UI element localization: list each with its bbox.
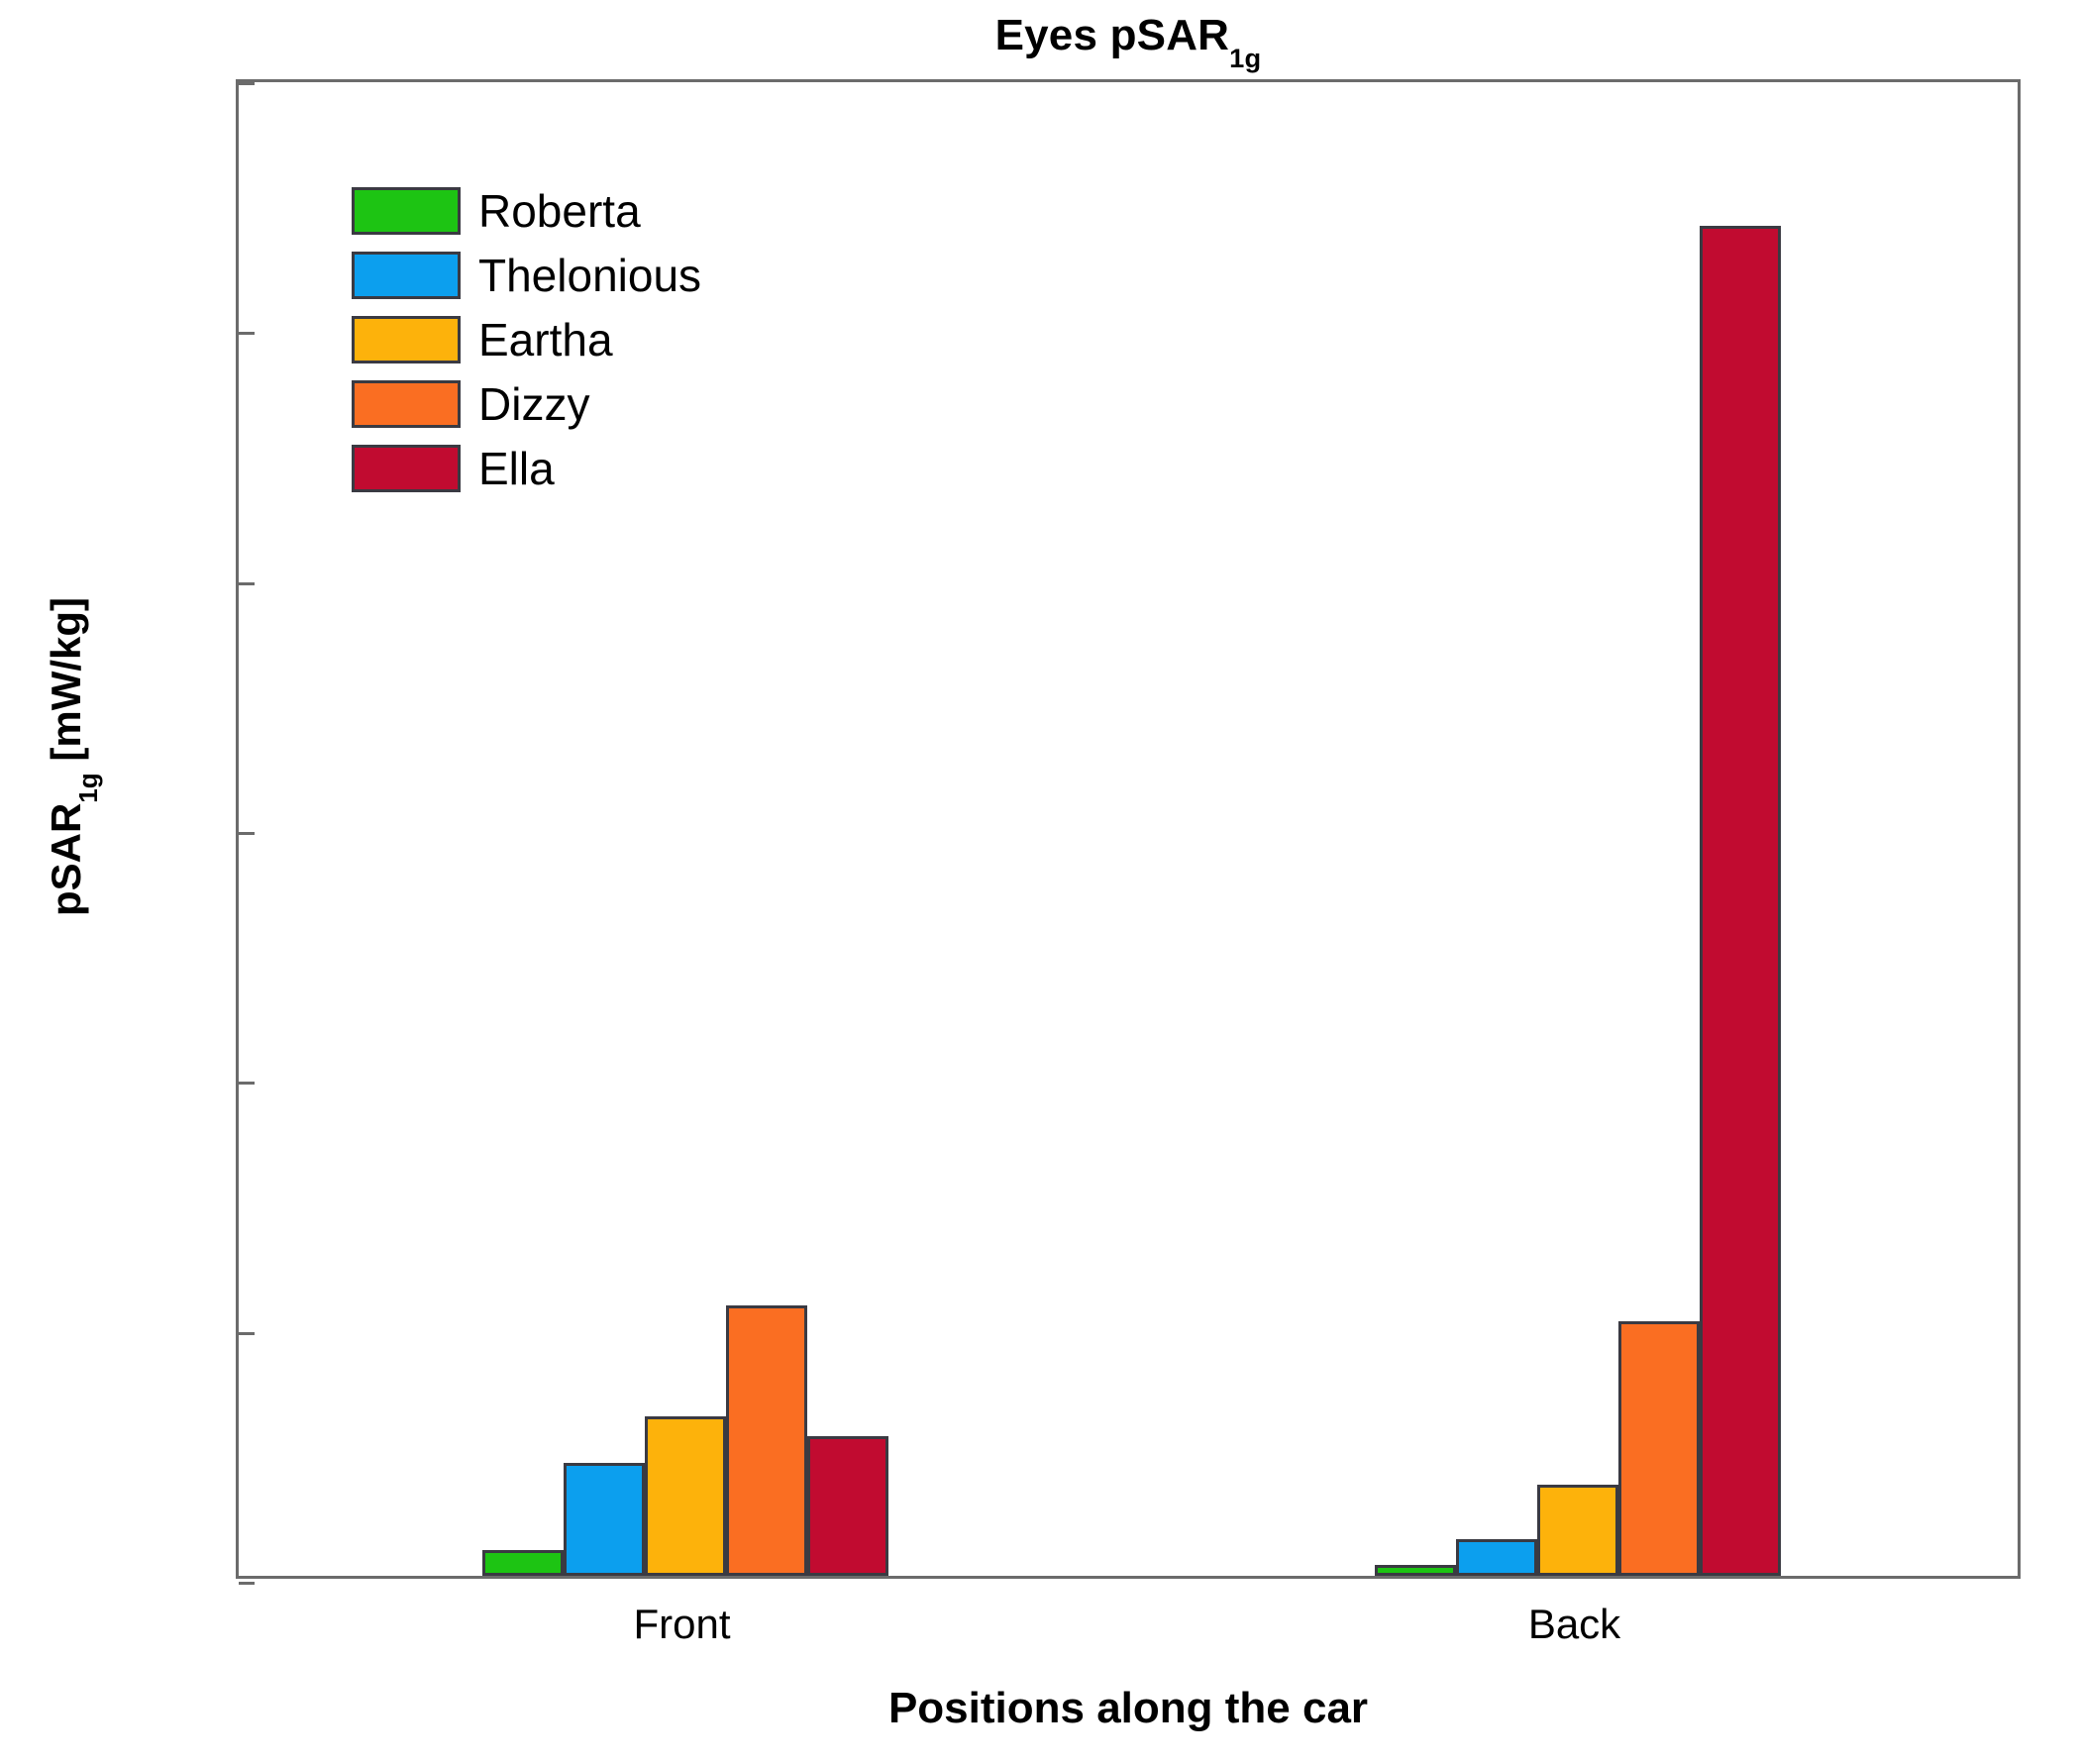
legend-label-ella: Ella xyxy=(478,444,555,493)
legend-swatch-ella xyxy=(352,445,461,492)
y-tick-mark xyxy=(239,332,255,335)
legend-item-thelonious[interactable]: Thelonious xyxy=(352,243,778,307)
y-tick-mark xyxy=(239,832,255,835)
legend-label-eartha: Eartha xyxy=(478,315,613,364)
y-tick-mark xyxy=(239,82,255,85)
chart-title: Eyes pSAR1g xyxy=(236,8,2021,63)
y-tick-mark xyxy=(239,582,255,585)
legend-label-dizzy: Dizzy xyxy=(478,379,589,429)
bar-eartha-back[interactable] xyxy=(1537,1485,1618,1576)
y-axis-title-unit: [mW/kg] xyxy=(43,597,89,773)
chart-title-main: Eyes pSAR xyxy=(995,11,1230,59)
x-axis-title: Positions along the car xyxy=(236,1684,2021,1733)
bar-thelonious-back[interactable] xyxy=(1456,1539,1537,1576)
legend-item-dizzy[interactable]: Dizzy xyxy=(352,371,778,436)
legend-item-ella[interactable]: Ella xyxy=(352,436,778,500)
legend-label-thelonious: Thelonious xyxy=(478,251,701,300)
y-axis-title-subscript: 1g xyxy=(73,773,103,802)
legend-swatch-roberta xyxy=(352,187,461,235)
figure-canvas: Eyes pSAR1g pSAR1g [mW/kg] 0102030405060… xyxy=(0,0,2080,1764)
y-tick-mark xyxy=(239,1082,255,1085)
legend-label-roberta: Roberta xyxy=(478,186,641,236)
y-tick-mark xyxy=(239,1332,255,1335)
legend-swatch-thelonious xyxy=(352,252,461,299)
x-tick-label-back: Back xyxy=(1377,1601,1773,1648)
y-axis-title: pSAR1g [mW/kg] xyxy=(43,7,90,1506)
legend-swatch-dizzy xyxy=(352,380,461,428)
x-tick-label-front: Front xyxy=(484,1601,881,1648)
y-axis-title-main: pSAR xyxy=(43,803,89,916)
legend-item-roberta[interactable]: Roberta xyxy=(352,178,778,243)
bar-dizzy-back[interactable] xyxy=(1618,1321,1700,1576)
chart-title-subscript: 1g xyxy=(1229,43,1261,73)
legend: RobertaTheloniousEarthaDizzyElla xyxy=(352,178,778,500)
bar-ella-back[interactable] xyxy=(1700,226,1781,1576)
legend-swatch-eartha xyxy=(352,316,461,363)
y-tick-mark xyxy=(239,1582,255,1585)
legend-item-eartha[interactable]: Eartha xyxy=(352,307,778,371)
bar-ella-front[interactable] xyxy=(807,1436,888,1576)
bar-thelonious-front[interactable] xyxy=(564,1463,645,1576)
bar-roberta-back[interactable] xyxy=(1375,1565,1456,1576)
bar-eartha-front[interactable] xyxy=(645,1416,726,1576)
bar-roberta-front[interactable] xyxy=(482,1550,564,1576)
bar-dizzy-front[interactable] xyxy=(726,1305,807,1576)
